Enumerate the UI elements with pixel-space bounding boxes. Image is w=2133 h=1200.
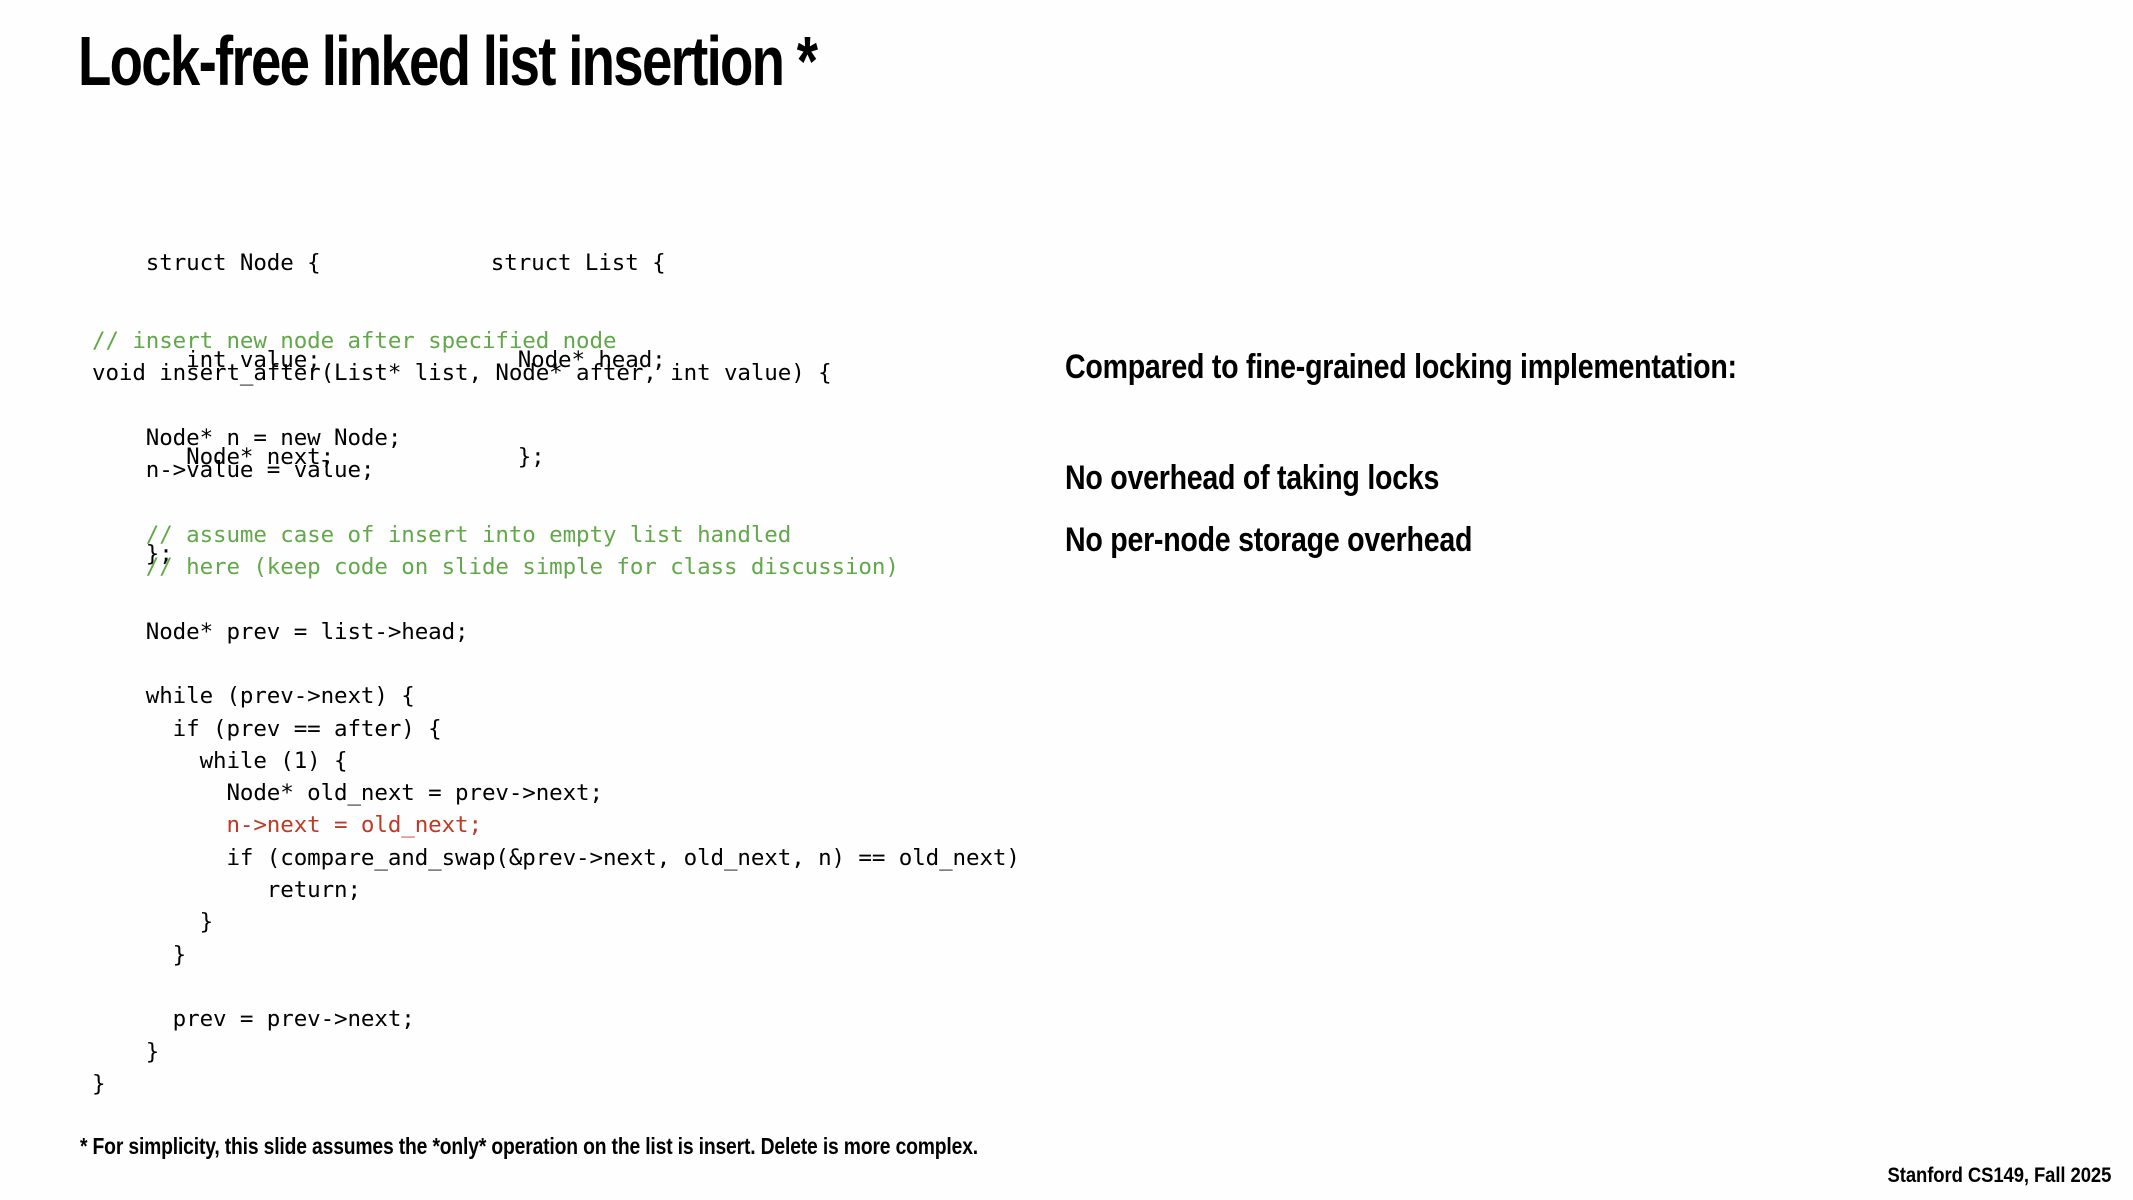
notes-column: Compared to fine-grained locking impleme…: [1065, 348, 2025, 583]
code-line: void insert_after(List* list, Node* afte…: [92, 357, 1020, 389]
notes-bullet: No per-node storage overhead: [1065, 521, 1871, 560]
code-line: Node* old_next = prev->next;: [92, 777, 1020, 809]
code-line: n->next = old_next;: [92, 809, 1020, 841]
page-title: Lock-free linked list insertion *: [78, 26, 816, 96]
code-line: [92, 648, 1020, 680]
code-line: Node* prev = list->head;: [92, 616, 1020, 648]
code-line: }: [92, 1068, 1020, 1100]
code-line: // insert new node after specified node: [92, 325, 1020, 357]
code-line: struct Node {: [146, 247, 491, 279]
slide-canvas: Lock-free linked list insertion * struct…: [0, 0, 2133, 1200]
code-line: }: [92, 906, 1020, 938]
notes-heading: Compared to fine-grained locking impleme…: [1065, 348, 1871, 387]
insert-after-code-block: // insert new node after specified nodev…: [92, 325, 1020, 1100]
code-line: // assume case of insert into empty list…: [92, 519, 1020, 551]
code-line: [92, 583, 1020, 615]
code-line: struct List {: [491, 247, 666, 279]
notes-bullet-list: No overhead of taking locks No per-node …: [1065, 459, 2025, 560]
code-line: Node* n = new Node;: [92, 422, 1020, 454]
code-line: }: [92, 1036, 1020, 1068]
footnote: * For simplicity, this slide assumes the…: [80, 1133, 978, 1160]
code-line: [92, 390, 1020, 422]
code-line: while (1) {: [92, 745, 1020, 777]
code-line: [92, 971, 1020, 1003]
code-line: prev = prev->next;: [92, 1003, 1020, 1035]
code-line: // here (keep code on slide simple for c…: [92, 551, 1020, 583]
code-line: while (prev->next) {: [92, 680, 1020, 712]
code-line: [92, 486, 1020, 518]
notes-bullet: No overhead of taking locks: [1065, 459, 1871, 498]
course-attribution: Stanford CS149, Fall 2025: [1887, 1164, 2111, 1188]
code-line: return;: [92, 874, 1020, 906]
code-line: n->value = value;: [92, 454, 1020, 486]
code-line: }: [92, 939, 1020, 971]
code-line: if (prev == after) {: [92, 713, 1020, 745]
code-line: if (compare_and_swap(&prev->next, old_ne…: [92, 842, 1020, 874]
